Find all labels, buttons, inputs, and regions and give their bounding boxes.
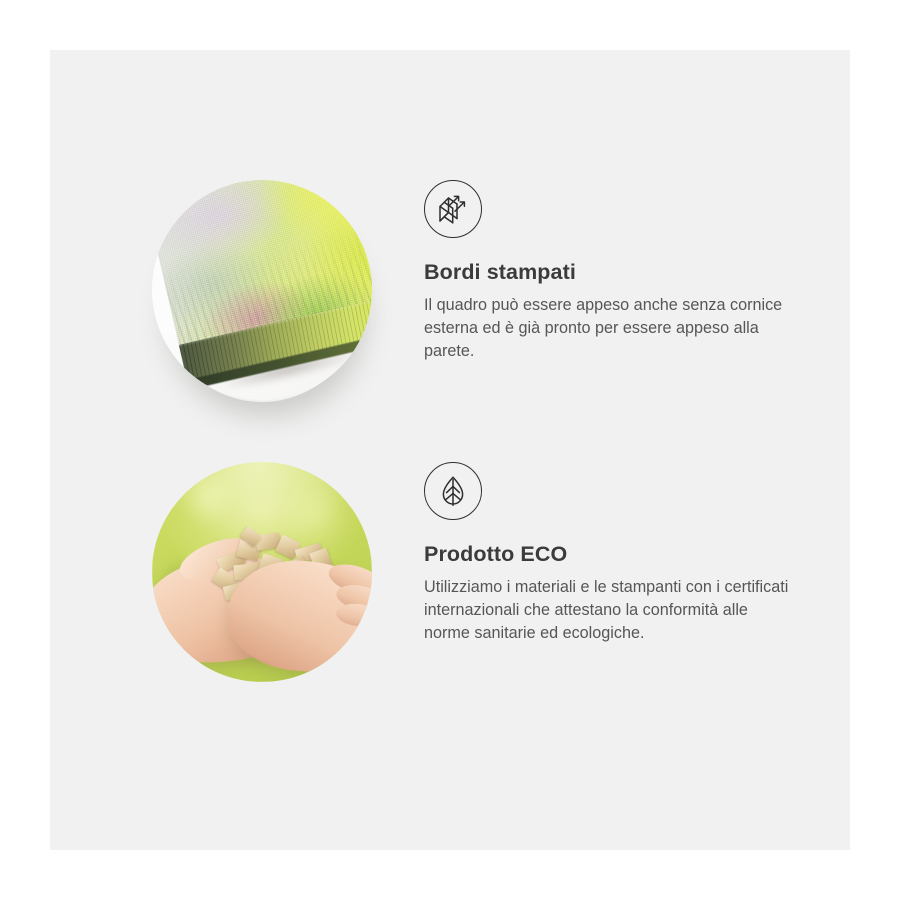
- feature-title: Bordi stampati: [424, 260, 814, 286]
- feature-description: Utilizziamo i materiali e le stampanti c…: [424, 576, 794, 645]
- canvas-corner-object: [152, 180, 372, 400]
- content-panel: Bordi stampati Il quadro può essere appe…: [50, 50, 850, 850]
- product-feature-infographic: Bordi stampati Il quadro può essere appe…: [0, 0, 900, 900]
- canvas-print-corner-photo: [152, 180, 372, 400]
- photo-clip-circle: [152, 462, 372, 682]
- hands-wood-chips-photo: [152, 462, 372, 682]
- printed-edge-icon: [424, 180, 482, 238]
- feature-title: Prodotto ECO: [424, 542, 814, 568]
- photo-clip-circle: [152, 180, 372, 400]
- feature-description: Il quadro può essere appeso anche senza …: [424, 294, 794, 363]
- leaf-icon: [424, 462, 482, 520]
- feature-text-column: Prodotto ECO Utilizziamo i materiali e l…: [424, 462, 814, 645]
- feature-text-column: Bordi stampati Il quadro può essere appe…: [424, 180, 814, 363]
